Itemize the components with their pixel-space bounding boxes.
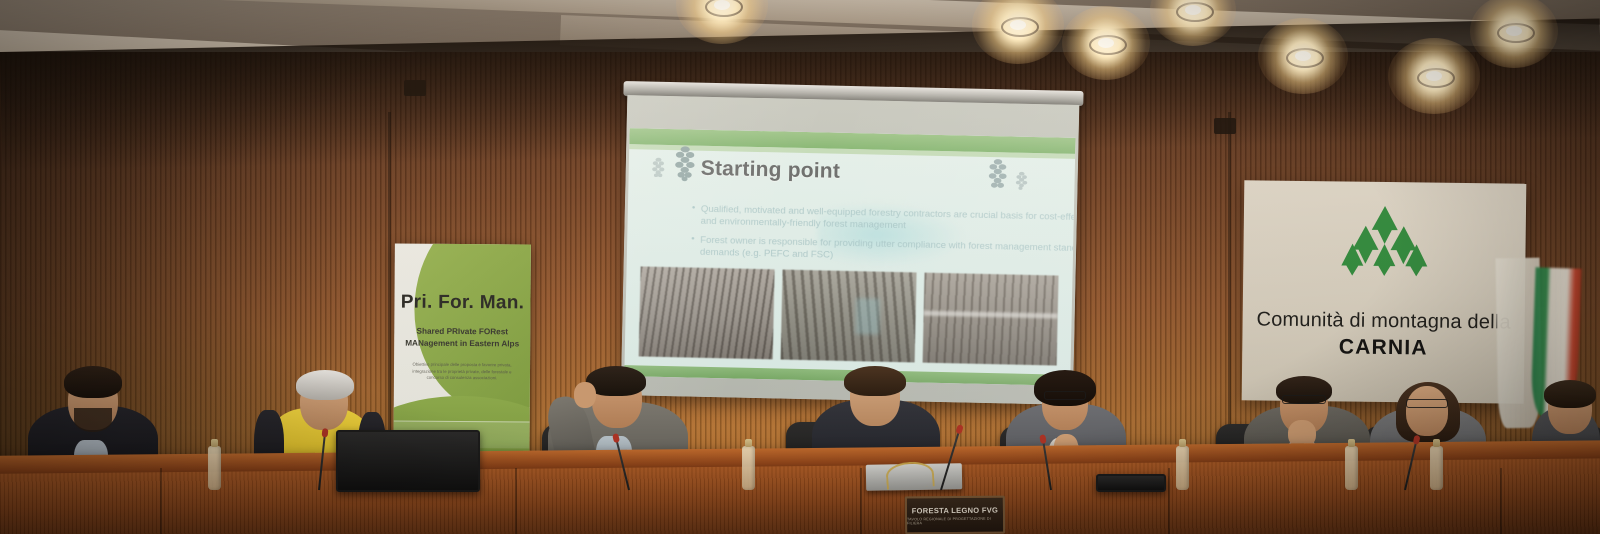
- light-bulb-icon: [1295, 51, 1311, 61]
- panel-desk: [0, 448, 1600, 534]
- pinecone-icon: [1014, 171, 1028, 192]
- carnia-sign-text: Comunità di montagna della CARNIA: [1243, 308, 1525, 311]
- panelist-7-glasses-icon: [1406, 399, 1448, 408]
- slide-bullet-list: Qualified, motivated and well-equipped f…: [651, 202, 1076, 275]
- forest-photo-1: [639, 266, 775, 359]
- panelist-5-glasses-icon: [1044, 391, 1086, 400]
- wall-speaker-icon: [404, 80, 426, 96]
- desk-seam: [515, 468, 517, 534]
- projection-screen-assembly: Starting point Qualified, motivated and …: [621, 91, 1080, 413]
- ceiling-light: [1258, 18, 1348, 94]
- water-bottle[interactable]: [1345, 446, 1358, 490]
- carnia-line-2: CARNIA: [1242, 334, 1524, 361]
- desk-seam: [860, 468, 862, 534]
- wall-speaker-icon: [1214, 118, 1236, 134]
- desk-seam: [160, 468, 162, 534]
- nameplate-line-2: TAVOLO REGIONALE DI PROGETTAZIONE DI FIL…: [907, 516, 1003, 525]
- slide-bullet: Qualified, motivated and well-equipped f…: [691, 203, 1075, 236]
- nameplate-line-1: FORESTA LEGNO FVG: [912, 505, 998, 515]
- desk-monitor[interactable]: [336, 430, 480, 492]
- desk-seam: [1500, 468, 1502, 534]
- desk-monitor[interactable]: [1096, 474, 1166, 492]
- pinecone-icon: [651, 157, 666, 179]
- light-bulb-icon: [1506, 26, 1522, 36]
- panelist-1-hair: [64, 366, 122, 398]
- panelist-6-glasses-icon: [1282, 395, 1326, 404]
- panelist-7-face: [1406, 386, 1448, 436]
- slide-title: Starting point: [701, 157, 841, 184]
- water-bottle[interactable]: [208, 446, 221, 490]
- panelist-3-hand: [574, 382, 596, 408]
- panelist-8-hair: [1544, 380, 1596, 408]
- pinecone-icon: [986, 158, 1009, 191]
- forest-photo-3: [923, 273, 1059, 366]
- conference-room-photo: Starting point Qualified, motivated and …: [0, 0, 1600, 534]
- panelist-1-beard: [74, 408, 112, 432]
- carnia-line-1: Comunità di montagna della: [1243, 308, 1525, 334]
- light-bulb-icon: [1426, 71, 1442, 81]
- light-bulb-icon: [714, 0, 730, 10]
- projection-screen: Starting point Qualified, motivated and …: [621, 95, 1079, 405]
- light-bulb-icon: [1185, 5, 1201, 15]
- light-bulb-icon: [1098, 38, 1114, 48]
- panelist-4-hair: [844, 366, 906, 396]
- banner-body-text: Obiettivo principale delle proposta è fa…: [410, 362, 514, 383]
- slide-bullet: Forest owner is responsible for providin…: [691, 235, 1076, 268]
- panelist-2-hair: [296, 370, 354, 400]
- pinecone-icon: [673, 145, 698, 182]
- forest-photo-2: [781, 270, 917, 363]
- presentation-slide: Starting point Qualified, motivated and …: [624, 128, 1075, 386]
- water-bottle[interactable]: [1430, 446, 1443, 490]
- water-bottle[interactable]: [742, 446, 755, 490]
- banner-title: Pri. For. Man.: [394, 292, 530, 315]
- banner-subtitle: Shared PRIvate FORest MANagement in East…: [402, 326, 522, 351]
- desk-seam: [1168, 468, 1170, 534]
- ceiling-light: [1062, 6, 1150, 80]
- slide-photo-strip: [639, 266, 1059, 365]
- panelist-5-hair: [1034, 370, 1096, 406]
- tree-cluster-logo-icon: [1335, 203, 1434, 276]
- light-bulb-icon: [1010, 20, 1026, 30]
- table-nameplate: FORESTA LEGNO FVG TAVOLO REGIONALE DI PR…: [905, 496, 1005, 534]
- water-bottle[interactable]: [1176, 446, 1189, 490]
- carnia-wall-sign: Comunità di montagna della CARNIA: [1242, 180, 1527, 403]
- ceiling-light: [1388, 38, 1480, 114]
